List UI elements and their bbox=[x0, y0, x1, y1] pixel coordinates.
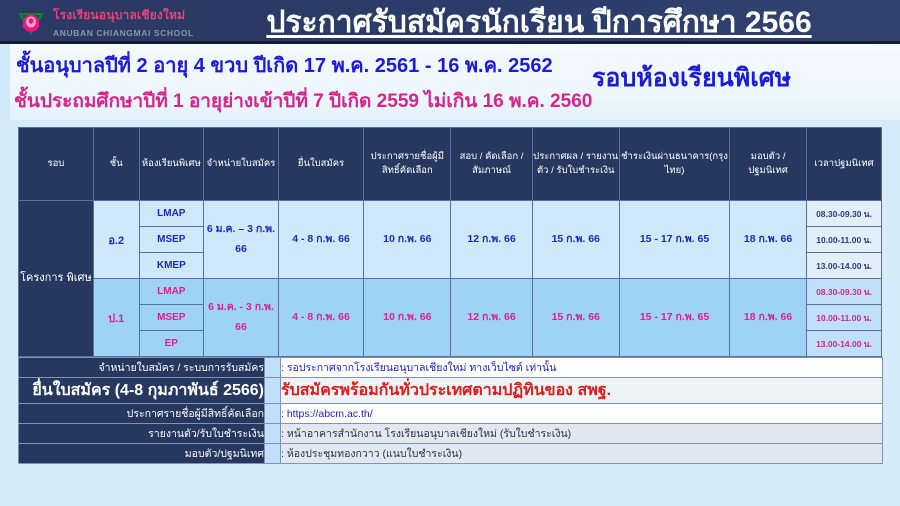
lotus-emblem-icon bbox=[14, 6, 48, 40]
col-grade: ชั้น bbox=[93, 128, 139, 201]
handover-cell: 18 ก.พ. 66 bbox=[730, 279, 807, 357]
notes-table: จำหน่ายใบสมัคร / ระบบการรับสมัคร : รอประ… bbox=[18, 357, 883, 464]
table-header-row: รอบ ชั้น ห้องเรียนพิเศษ จำหน่ายใบสมัคร ย… bbox=[19, 128, 882, 201]
program-cell: EP bbox=[139, 331, 203, 357]
submit-cell: 4 - 8 ก.พ. 66 bbox=[278, 279, 363, 357]
eligibility-kindergarten: ชั้นอนุบาลปีที่ 2 อายุ 4 ขวบ ปีเกิด 17 พ… bbox=[16, 49, 553, 81]
orientation-time-cell: 13.00-14.00 น. bbox=[807, 331, 882, 357]
note-gap bbox=[265, 444, 281, 464]
handover-cell: 18 ก.พ. 66 bbox=[730, 201, 807, 279]
note-label: มอบตัว/ปฐมนิเทศ bbox=[19, 444, 265, 464]
page-title: ประกาศรับสมัครนักเรียน ปีการศึกษา 2566 bbox=[186, 1, 892, 43]
note-label: จำหน่ายใบสมัคร / ระบบการรับสมัคร bbox=[19, 358, 265, 378]
note-label: รายงานตัว/รับใบชำระเงิน bbox=[19, 424, 265, 444]
note-gap bbox=[265, 424, 281, 444]
note-gap bbox=[265, 404, 281, 424]
announce-eligible-cell: 10 ก.พ. 66 bbox=[364, 201, 451, 279]
schedule-table: รอบ ชั้น ห้องเรียนพิเศษ จำหน่ายใบสมัคร ย… bbox=[18, 127, 882, 357]
col-announce-eligible: ประกาศรายชื่อผู้มีสิทธิ์คัดเลือก bbox=[364, 128, 451, 201]
sale-period-cell: 6 ม.ค. - 3 ก.พ. 66 bbox=[204, 279, 279, 357]
note-value: : ห้องประชุมทองกวาว (แนบใบชำระเงิน) bbox=[281, 444, 883, 464]
col-handover: มอบตัว / ปฐมนิเทศ bbox=[730, 128, 807, 201]
school-name-en: ANUBAN CHIANGMAI SCHOOL bbox=[53, 28, 194, 38]
submit-cell: 4 - 8 ก.พ. 66 bbox=[278, 201, 363, 279]
program-cell: KMEP bbox=[139, 253, 203, 279]
col-orientation-time: เวลาปฐมนิเทศ bbox=[807, 128, 882, 201]
school-brand: โรงเรียนอนุบาลเชียงใหม่ ANUBAN CHIANGMAI… bbox=[14, 5, 194, 41]
col-exam: สอบ / คัดเลือก / สัมภาษณ์ bbox=[451, 128, 532, 201]
col-result: ประกาศผล / รายงานตัว / รับใบชำระเงิน bbox=[532, 128, 619, 201]
col-round: รอบ bbox=[19, 128, 94, 201]
note-row: ประกาศรายชื่อผู้มีสิทธิ์คัดเลือก : https… bbox=[19, 404, 883, 424]
program-cell: MSEP bbox=[139, 227, 203, 253]
table-row: โครงการ พิเศษ อ.2 LMAP 6 ม.ค. – 3 ก.พ. 6… bbox=[19, 201, 882, 227]
orientation-time-cell: 10.00-11.00 น. bbox=[807, 227, 882, 253]
note-value-link[interactable]: : https://abcm.ac.th/ bbox=[281, 404, 883, 424]
orientation-time-cell: 08.30-09.30 น. bbox=[807, 201, 882, 227]
school-name-th: โรงเรียนอนุบาลเชียงใหม่ bbox=[53, 8, 185, 22]
eligibility-primary: ชั้นประถมศึกษาปีที่ 1 อายุย่างเข้าปีที่ … bbox=[14, 86, 592, 116]
result-cell: 15 ก.พ. 66 bbox=[532, 201, 619, 279]
sale-period-cell: 6 ม.ค. – 3 ก.พ. 66 bbox=[204, 201, 279, 279]
note-label: ยื่นใบสมัคร (4-8 กุมภาพันธ์ 2566) bbox=[19, 378, 265, 404]
note-gap bbox=[265, 378, 281, 404]
left-rail bbox=[0, 44, 10, 120]
note-value: รับสมัครพร้อมกันทั่วประเทศตามปฏิทินของ ส… bbox=[281, 378, 883, 404]
note-gap bbox=[265, 358, 281, 378]
col-program: ห้องเรียนพิเศษ bbox=[139, 128, 203, 201]
orientation-time-cell: 08.30-09.30 น. bbox=[807, 279, 882, 305]
orientation-time-cell: 13.00-14.00 น. bbox=[807, 253, 882, 279]
note-label: ประกาศรายชื่อผู้มีสิทธิ์คัดเลือก bbox=[19, 404, 265, 424]
col-payment: ชำระเงินผ่านธนาคาร(กรุงไทย) bbox=[619, 128, 729, 201]
payment-cell: 15 - 17 ก.พ. 65 bbox=[619, 279, 729, 357]
note-row: รายงานตัว/รับใบชำระเงิน : หน้าอาคารสำนัก… bbox=[19, 424, 883, 444]
orientation-time-cell: 10.00-11.00 น. bbox=[807, 305, 882, 331]
col-submit: ยื่นใบสมัคร bbox=[278, 128, 363, 201]
exam-cell: 12 ก.พ. 66 bbox=[451, 279, 532, 357]
table-row: ป.1 LMAP 6 ม.ค. - 3 ก.พ. 66 4 - 8 ก.พ. 6… bbox=[19, 279, 882, 305]
note-row: ยื่นใบสมัคร (4-8 กุมภาพันธ์ 2566) รับสมั… bbox=[19, 378, 883, 404]
program-cell: MSEP bbox=[139, 305, 203, 331]
payment-cell: 15 - 17 ก.พ. 65 bbox=[619, 201, 729, 279]
round-cell: โครงการ พิเศษ bbox=[19, 201, 94, 357]
note-value: : หน้าอาคารสำนักงาน โรงเรียนอนุบาลเชียงใ… bbox=[281, 424, 883, 444]
announce-eligible-cell: 10 ก.พ. 66 bbox=[364, 279, 451, 357]
round-heading: รอบห้องเรียนพิเศษ bbox=[592, 58, 791, 98]
grade-cell: อ.2 bbox=[93, 201, 139, 279]
col-sale: จำหน่ายใบสมัคร bbox=[204, 128, 279, 201]
exam-cell: 12 ก.พ. 66 bbox=[451, 201, 532, 279]
note-row: มอบตัว/ปฐมนิเทศ : ห้องประชุมทองกวาว (แนบ… bbox=[19, 444, 883, 464]
program-cell: LMAP bbox=[139, 279, 203, 305]
program-cell: LMAP bbox=[139, 201, 203, 227]
result-cell: 15 ก.พ. 66 bbox=[532, 279, 619, 357]
note-row: จำหน่ายใบสมัคร / ระบบการรับสมัคร : รอประ… bbox=[19, 358, 883, 378]
note-value: : รอประกาศจากโรงเรียนอนุบาลเชียงใหม่ ทาง… bbox=[281, 358, 883, 378]
grade-cell: ป.1 bbox=[93, 279, 139, 357]
schedule-table-wrapper: รอบ ชั้น ห้องเรียนพิเศษ จำหน่ายใบสมัคร ย… bbox=[18, 127, 882, 464]
